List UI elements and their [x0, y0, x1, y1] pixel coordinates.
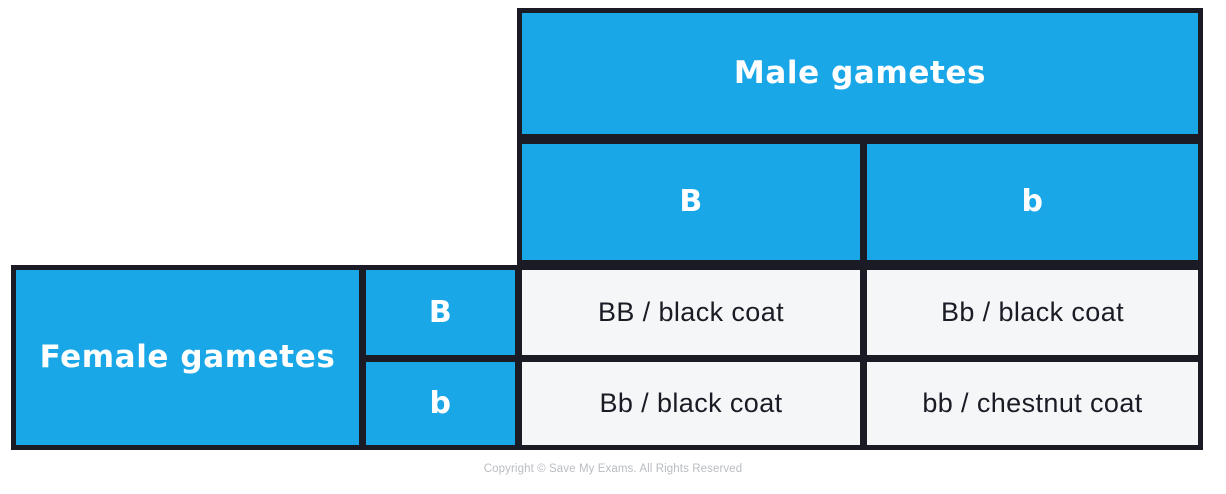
offspring-cell-BB: BB / black coat: [517, 265, 865, 360]
female-allele-header-b: b: [361, 357, 520, 450]
punnett-square-diagram: Male gametes B b Female gametes B b BB /…: [0, 0, 1226, 494]
male-gametes-axis-label: Male gametes: [517, 8, 1203, 139]
offspring-cell-Bb-top-right: Bb / black coat: [862, 265, 1203, 360]
female-gametes-axis-label: Female gametes: [11, 265, 364, 450]
male-allele-header-b: b: [862, 139, 1203, 265]
female-allele-header-B: B: [361, 265, 520, 360]
copyright-notice: Copyright © Save My Exams. All Rights Re…: [0, 463, 1226, 475]
male-allele-header-B: B: [517, 139, 865, 265]
offspring-cell-bb: bb / chestnut coat: [862, 357, 1203, 450]
offspring-cell-Bb-bottom-left: Bb / black coat: [517, 357, 865, 450]
